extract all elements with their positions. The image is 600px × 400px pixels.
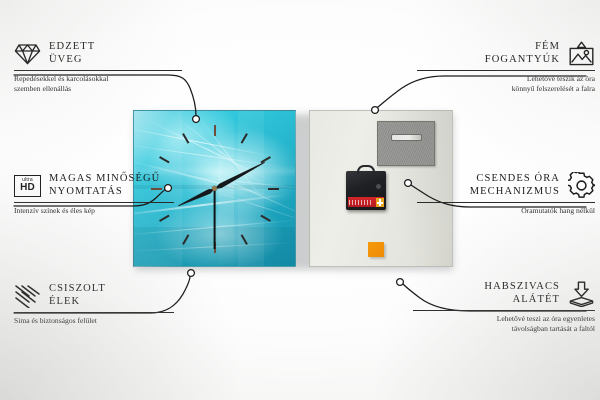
product-image <box>133 110 453 268</box>
feature-divider <box>413 310 595 311</box>
feature-header: CSISZOLT ÉLEK <box>14 282 174 309</box>
connector-dot-foam-pad <box>397 279 404 286</box>
feature-title: HABSZIVACS ALÁTÉT <box>484 281 560 306</box>
feature-subtitle: Sima és biztonságos felület <box>14 316 174 326</box>
movement-red-label <box>348 197 384 207</box>
feature-title: CSISZOLT ÉLEK <box>49 283 106 308</box>
feature-subtitle: Lehetővé teszi az óra egyenletes távolsá… <box>413 314 595 333</box>
picture-hanger-icon <box>568 40 595 67</box>
feature-foam-pad: HABSZIVACS ALÁTÉT Lehetővé teszi az óra … <box>413 280 595 333</box>
clock-tick <box>215 188 279 190</box>
clock-second-hand <box>214 189 216 249</box>
feature-polished-edges: CSISZOLT ÉLEK Sima és biztonságos felüle… <box>14 282 174 326</box>
feature-title: MAGAS MINŐSÉGŰ NYOMTATÁS <box>49 173 160 198</box>
hd-badge: ultra HD <box>14 175 41 197</box>
foam-pad-icon <box>568 280 595 307</box>
feature-header: EDZETT ÜVEG <box>14 40 182 67</box>
feature-header: HABSZIVACS ALÁTÉT <box>413 280 595 307</box>
feature-high-quality-print: ultra HD MAGAS MINŐSÉGŰ NYOMTATÁS Intenz… <box>14 172 174 216</box>
gear-icon <box>568 172 595 199</box>
orange-foam-pad <box>368 242 384 257</box>
feature-title: CSENDES ÓRA MECHANIZMUS <box>470 173 560 198</box>
polished-edges-icon <box>14 282 41 309</box>
movement-knob <box>376 184 381 189</box>
feature-divider <box>14 202 174 203</box>
feature-header: CSENDES ÓRA MECHANIZMUS <box>417 172 595 199</box>
infographic-canvas: EDZETT ÜVEG Repedésekkel és karcolásokka… <box>0 0 600 400</box>
feature-divider <box>417 70 595 71</box>
feature-divider <box>14 312 174 313</box>
feature-divider <box>417 202 595 203</box>
ultra-hd-icon: ultra HD <box>14 172 41 199</box>
hanger-slot <box>391 134 422 141</box>
connector-dot-polished-edges <box>188 270 195 277</box>
feature-header: FÉM FOGANTYÚK <box>417 40 595 67</box>
hd-badge-big-text: HD <box>20 183 35 193</box>
feature-divider <box>14 70 182 71</box>
feature-title: FÉM FOGANTYÚK <box>485 41 560 66</box>
feature-header: ultra HD MAGAS MINŐSÉGŰ NYOMTATÁS <box>14 172 174 199</box>
feature-subtitle: Lehetővé teszik az óra könnyű felszerelé… <box>417 74 595 93</box>
quartz-movement-box <box>346 171 386 210</box>
battery-plus-marker <box>376 198 384 207</box>
metal-hanger-plate <box>377 121 435 166</box>
feature-metal-handles: FÉM FOGANTYÚK Lehetővé teszik az óra kön… <box>417 40 595 93</box>
feature-subtitle: Repedésekkel és karcolásokkal szemben el… <box>14 74 182 93</box>
feature-subtitle: Intenzív színek és éles kép <box>14 206 174 216</box>
feature-silent-mechanism: CSENDES ÓRA MECHANIZMUS Óramutatók hang … <box>417 172 595 216</box>
feature-tempered-glass: EDZETT ÜVEG Repedésekkel és karcolásokka… <box>14 40 182 93</box>
feature-subtitle: Óramutatók hang nélkül <box>417 206 595 216</box>
movement-bail <box>357 165 375 174</box>
diamond-icon <box>14 40 41 67</box>
clock-center-cap <box>212 186 217 191</box>
feature-title: EDZETT ÜVEG <box>49 41 95 66</box>
clock-tick <box>214 125 216 189</box>
